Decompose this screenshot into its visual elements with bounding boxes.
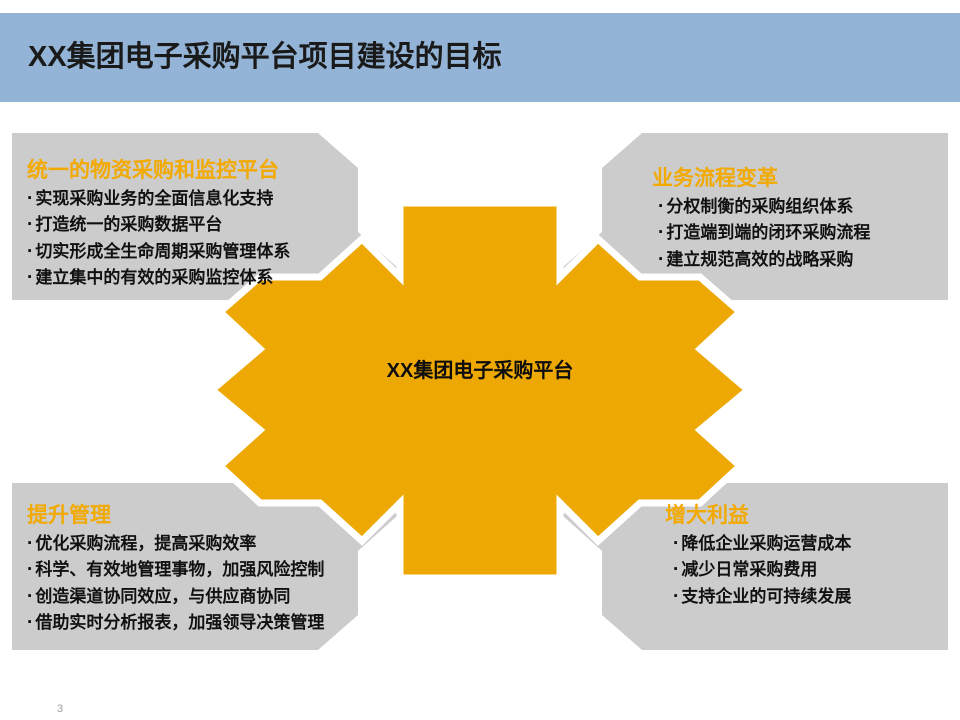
list-item: 支持企业的可持续发展 (665, 584, 851, 611)
panel-bottom-right-bullets: 降低企业采购运营成本 减少日常采购费用 支持企业的可持续发展 (665, 531, 851, 611)
list-item: 减少日常采购费用 (665, 557, 851, 584)
list-item: 建立规范高效的战略采购 (652, 247, 870, 274)
list-item: 创造渠道协同效应，与供应商协同 (27, 584, 324, 611)
center-node-label: XX集团电子采购平台 (355, 357, 605, 386)
list-item: 打造端到端的闭环采购流程 (652, 220, 870, 247)
panel-top-right-content: 业务流程变革 分权制衡的采购组织体系 打造端到端的闭环采购流程 建立规范高效的战… (652, 166, 870, 273)
list-item: 打造统一的采购数据平台 (27, 212, 290, 239)
panel-bottom-right-content: 增大利益 降低企业采购运营成本 减少日常采购费用 支持企业的可持续发展 (665, 503, 851, 610)
list-item: 建立集中的有效的采购监控体系 (27, 265, 290, 292)
list-item: 降低企业采购运营成本 (665, 531, 851, 558)
panel-top-left-content: 统一的物资采购和监控平台 实现采购业务的全面信息化支持 打造统一的采购数据平台 … (27, 158, 290, 292)
slide-page-number: 3 (57, 703, 63, 715)
panel-top-right-bullets: 分权制衡的采购组织体系 打造端到端的闭环采购流程 建立规范高效的战略采购 (652, 194, 870, 274)
panel-bottom-left-heading: 提升管理 (27, 503, 324, 529)
list-item: 实现采购业务的全面信息化支持 (27, 186, 290, 213)
list-item: 切实形成全生命周期采购管理体系 (27, 239, 290, 266)
panel-top-left-heading: 统一的物资采购和监控平台 (27, 158, 290, 184)
list-item: 优化采购流程，提高采购效率 (27, 531, 324, 558)
list-item: 科学、有效地管理事物，加强风险控制 (27, 557, 324, 584)
panel-bottom-left-content: 提升管理 优化采购流程，提高采购效率 科学、有效地管理事物，加强风险控制 创造渠… (27, 503, 324, 637)
panel-bottom-left-bullets: 优化采购流程，提高采购效率 科学、有效地管理事物，加强风险控制 创造渠道协同效应… (27, 531, 324, 637)
list-item: 借助实时分析报表，加强领导决策管理 (27, 610, 324, 637)
panel-top-right-heading: 业务流程变革 (652, 166, 870, 192)
panel-top-left-bullets: 实现采购业务的全面信息化支持 打造统一的采购数据平台 切实形成全生命周期采购管理… (27, 186, 290, 292)
list-item: 分权制衡的采购组织体系 (652, 194, 870, 221)
slide-canvas: XX集团电子采购平台项目建设的目标 统一的物资采购和 (0, 0, 960, 720)
panel-bottom-right-heading: 增大利益 (665, 503, 851, 529)
